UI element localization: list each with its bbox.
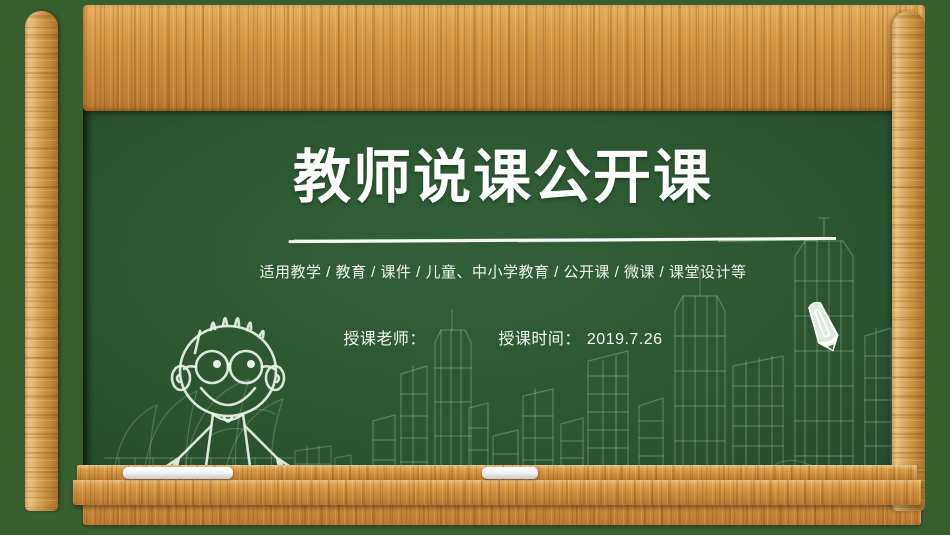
wooden-frame: 教师说课公开课 适用教学 / 教育 / 课件 / 儿童、中小学教育 / 公开课 … [25, 5, 925, 525]
frame-rail-top [83, 5, 925, 111]
subtitle: 适用教学 / 教育 / 课件 / 儿童、中小学教育 / 公开课 / 微课 / 课… [83, 261, 923, 282]
frame-post-left [25, 11, 58, 511]
chalk-stick-left[interactable] [123, 467, 233, 479]
teacher-label: 授课老师： [343, 331, 426, 348]
chalk-stick-right[interactable] [482, 467, 538, 479]
frame-post-right [892, 11, 925, 511]
page-title: 教师说课公开课 [293, 149, 713, 207]
chalk-tray [77, 465, 917, 503]
chalk-underline [288, 237, 836, 244]
chalk-tray-face [73, 480, 921, 505]
title-row: 教师说课公开课 [83, 149, 923, 207]
meta-row: 授课老师： 授课时间：2019.7.26 [83, 325, 923, 349]
chalkboard-slide: 教师说课公开课 适用教学 / 教育 / 课件 / 儿童、中小学教育 / 公开课 … [0, 0, 950, 535]
time-field[interactable]: 授课时间：2019.7.26 [498, 325, 662, 349]
time-label: 授课时间： [498, 331, 581, 348]
teacher-field[interactable]: 授课老师： [343, 325, 493, 349]
time-value: 2019.7.26 [581, 331, 663, 349]
chalkboard-surface: 教师说课公开课 适用教学 / 教育 / 课件 / 儿童、中小学教育 / 公开课 … [83, 106, 923, 483]
